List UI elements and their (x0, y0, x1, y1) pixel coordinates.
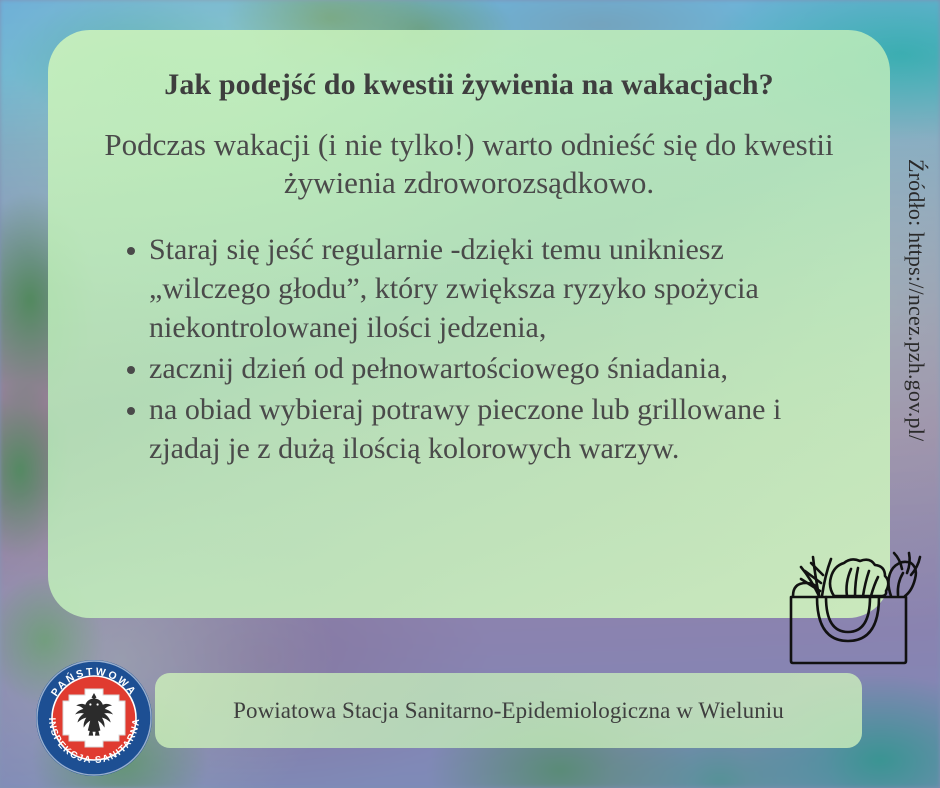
organization-name: Powiatowa Stacja Sanitarno-Epidemiologic… (233, 698, 784, 724)
source-link-vertical[interactable]: Źródło: https://ncez.pzh.gov.pl/ (893, 110, 929, 490)
poster-canvas: Jak podejść do kwestii żywienia na wakac… (0, 0, 940, 788)
advice-list: Staraj się jeść regularnie -dzięki temu … (105, 230, 850, 470)
lead-paragraph: Podczas wakacji (i nie tylko!) warto odn… (84, 126, 854, 202)
sanitary-inspection-logo: PAŃSTWOWA INSPEKCJA SANITARNA (33, 657, 155, 779)
list-item: zacznij dzień od pełnowartościowego śnia… (127, 349, 850, 388)
list-item: Staraj się jeść regularnie -dzięki temu … (127, 230, 850, 347)
list-item: na obiad wybieraj potrawy pieczone lub g… (127, 390, 850, 468)
footer-bar: Powiatowa Stacja Sanitarno-Epidemiologic… (155, 673, 862, 748)
page-title: Jak podejść do kwestii żywienia na wakac… (48, 68, 890, 102)
content-card: Jak podejść do kwestii żywienia na wakac… (48, 30, 890, 618)
vegetable-bag-icon (781, 535, 926, 670)
